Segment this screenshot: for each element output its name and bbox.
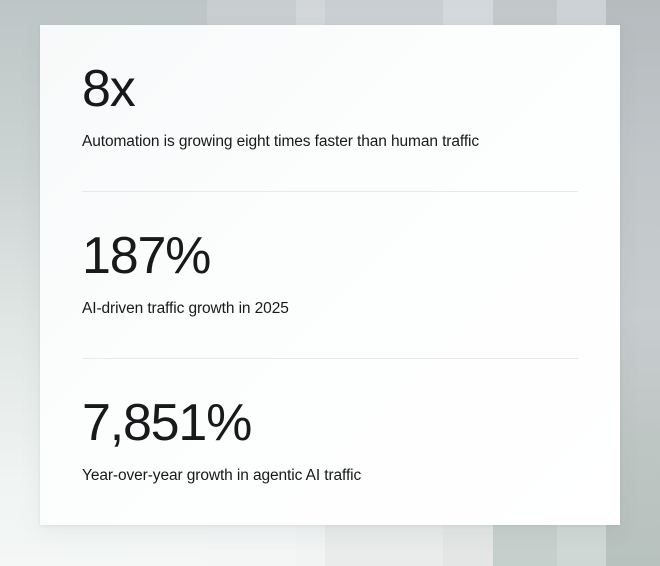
stat-value: 187% — [82, 230, 578, 283]
stat-block-agentic-ai-growth: 7,851% Year-over-year growth in agentic … — [82, 359, 578, 525]
stat-label: Automation is growing eight times faster… — [82, 132, 578, 152]
stat-label: AI-driven traffic growth in 2025 — [82, 299, 578, 319]
stats-card: 8x Automation is growing eight times fas… — [40, 25, 620, 525]
stats-list: 8x Automation is growing eight times fas… — [82, 25, 578, 525]
stat-block-ai-traffic-growth: 187% AI-driven traffic growth in 2025 — [82, 192, 578, 358]
stat-value: 7,851% — [82, 397, 578, 450]
stat-block-automation-multiplier: 8x Automation is growing eight times fas… — [82, 25, 578, 191]
stat-value: 8x — [82, 63, 578, 116]
stat-label: Year-over-year growth in agentic AI traf… — [82, 466, 578, 486]
screenshot-stage: 8x Automation is growing eight times fas… — [0, 0, 660, 566]
